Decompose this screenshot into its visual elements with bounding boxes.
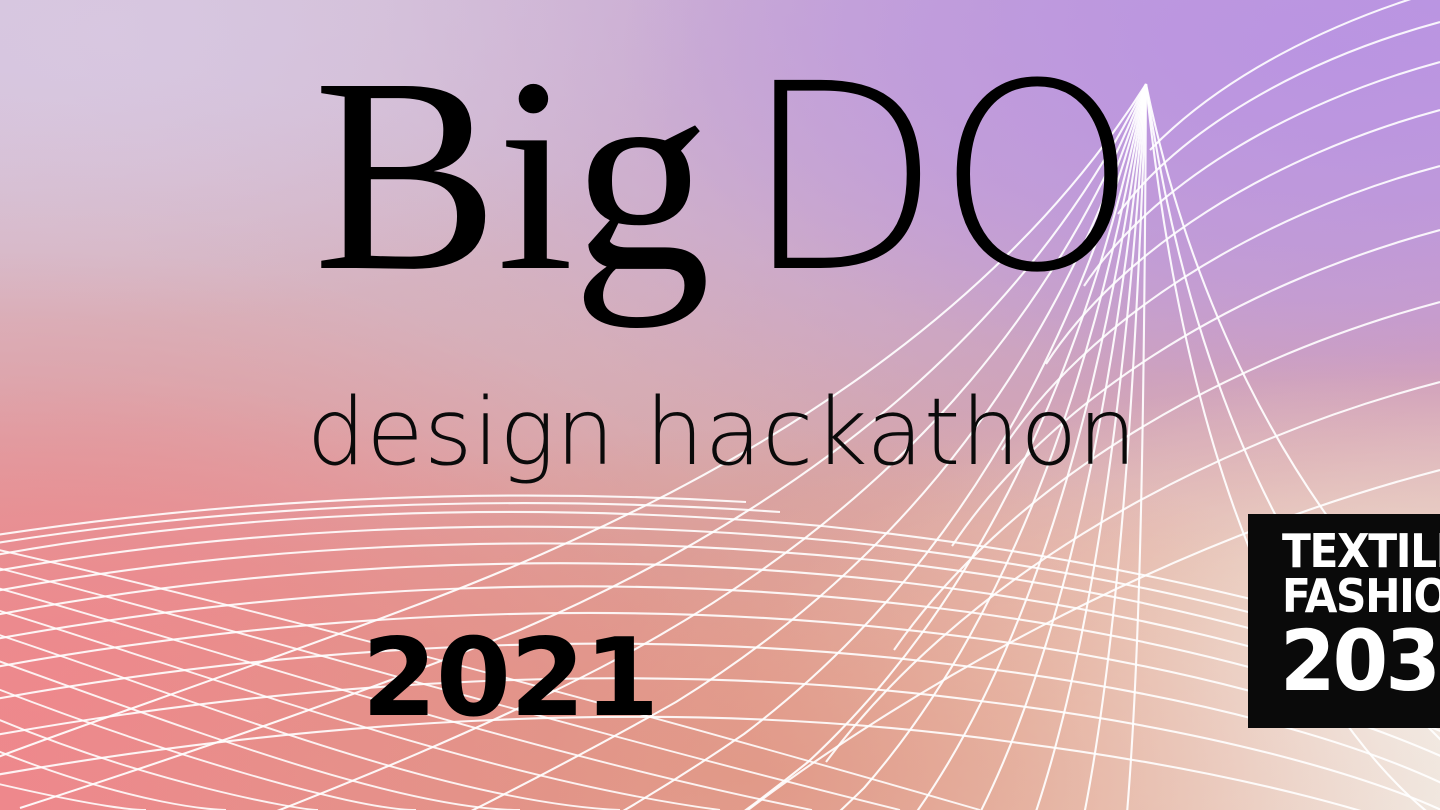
poster-canvas: BigDO design hackathon 2021 TEXTILE& FAS… xyxy=(0,0,1440,810)
headline-word-do: DO xyxy=(743,29,1133,329)
page-title: BigDO xyxy=(0,36,1440,314)
subtitle: design hackathon xyxy=(0,386,1440,479)
logo-line-2030: 2030 xyxy=(1280,622,1430,700)
textile-fashion-2030-logo: TEXTILE& FASHION 2030 xyxy=(1248,514,1440,728)
headline-word-big: Big xyxy=(313,21,709,329)
year-label: 2021 xyxy=(0,625,1440,733)
logo-line-textile: TEXTILE& xyxy=(1282,530,1426,573)
